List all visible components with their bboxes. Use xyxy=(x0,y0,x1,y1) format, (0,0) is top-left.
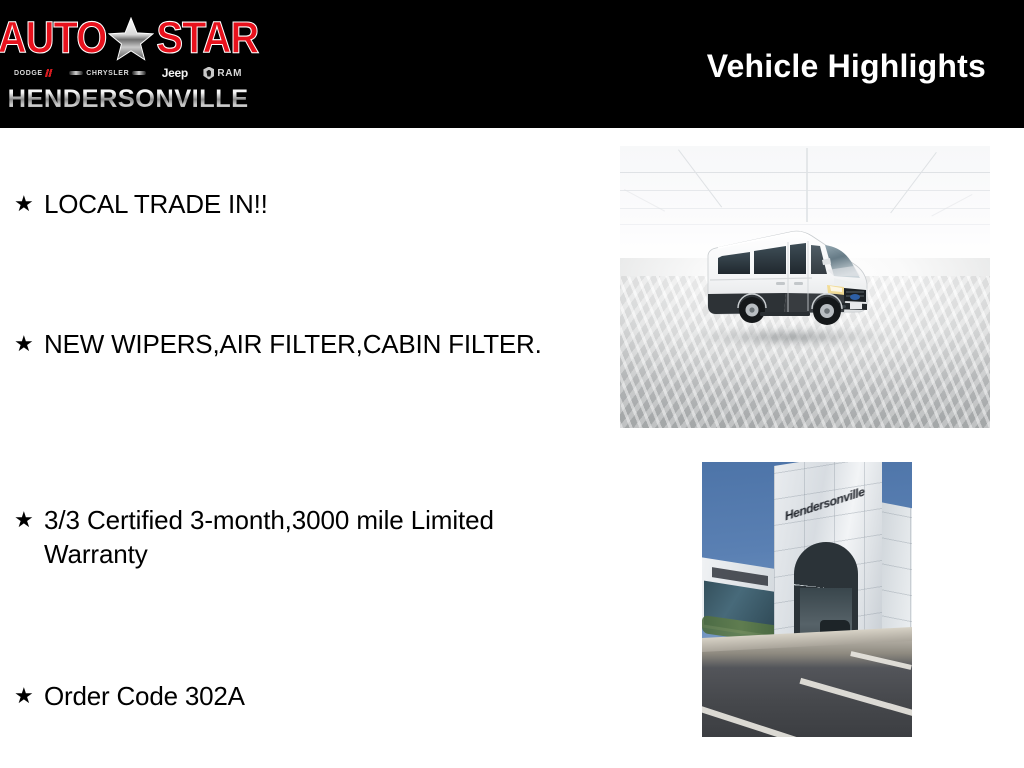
star-bullet-icon: ★ xyxy=(14,187,44,221)
chrysler-label: CHRYSLER xyxy=(86,70,129,77)
star-icon xyxy=(108,17,154,61)
logo-location-text: HENDERSONVILLE xyxy=(8,85,249,113)
page-title: Vehicle Highlights xyxy=(707,48,986,84)
list-item: ★ NEW WIPERS,AIR FILTER,CABIN FILTER. xyxy=(14,327,584,361)
list-item: ★ Order Code 302A xyxy=(14,679,584,713)
chrysler-wings-icon xyxy=(69,71,83,75)
dealer-logo[interactable]: AUTO xyxy=(12,14,244,120)
star-bullet-icon: ★ xyxy=(14,327,44,361)
chrysler-wings-icon-right xyxy=(132,71,146,75)
ford-transit-van xyxy=(694,216,880,341)
logo-word-auto: AUTO xyxy=(0,13,106,62)
logo-wordmark: AUTO xyxy=(12,14,244,62)
highlight-text: 3/3 Certified 3-month,3000 mile Limited … xyxy=(44,503,584,571)
dodge-slashes-icon xyxy=(45,69,54,77)
dodge-label: DODGE xyxy=(14,70,43,77)
list-item: ★ 3/3 Certified 3-month,3000 mile Limite… xyxy=(14,503,584,571)
chrysler-logo: CHRYSLER xyxy=(69,70,146,77)
highlights-list: ★ LOCAL TRADE IN!! ★ NEW WIPERS,AIR FILT… xyxy=(0,128,600,768)
highlight-text: NEW WIPERS,AIR FILTER,CABIN FILTER. xyxy=(44,327,584,361)
ram-logo: RAM xyxy=(203,67,242,80)
slide-header: AUTO xyxy=(0,0,1024,128)
highlight-text: Order Code 302A xyxy=(44,679,584,713)
dodge-logo: DODGE xyxy=(14,69,54,77)
arch-fan-window xyxy=(794,542,858,588)
ram-head-icon xyxy=(203,67,214,80)
brand-logos-row: DODGE CHRYSLER Jeep RAM xyxy=(14,64,242,82)
dealership-photo[interactable]: Hendersonville xyxy=(702,462,912,737)
vehicle-highlights-slide: AUTO xyxy=(0,0,1024,768)
star-bullet-icon: ★ xyxy=(14,679,44,713)
list-item: ★ LOCAL TRADE IN!! xyxy=(14,187,584,221)
highlight-text: LOCAL TRADE IN!! xyxy=(44,187,584,221)
logo-word-star: STAR xyxy=(156,13,258,62)
star-bullet-icon: ★ xyxy=(14,503,44,537)
vehicle-photo[interactable] xyxy=(620,146,990,428)
jeep-logo: Jeep xyxy=(162,66,188,80)
ram-label: RAM xyxy=(217,68,242,79)
